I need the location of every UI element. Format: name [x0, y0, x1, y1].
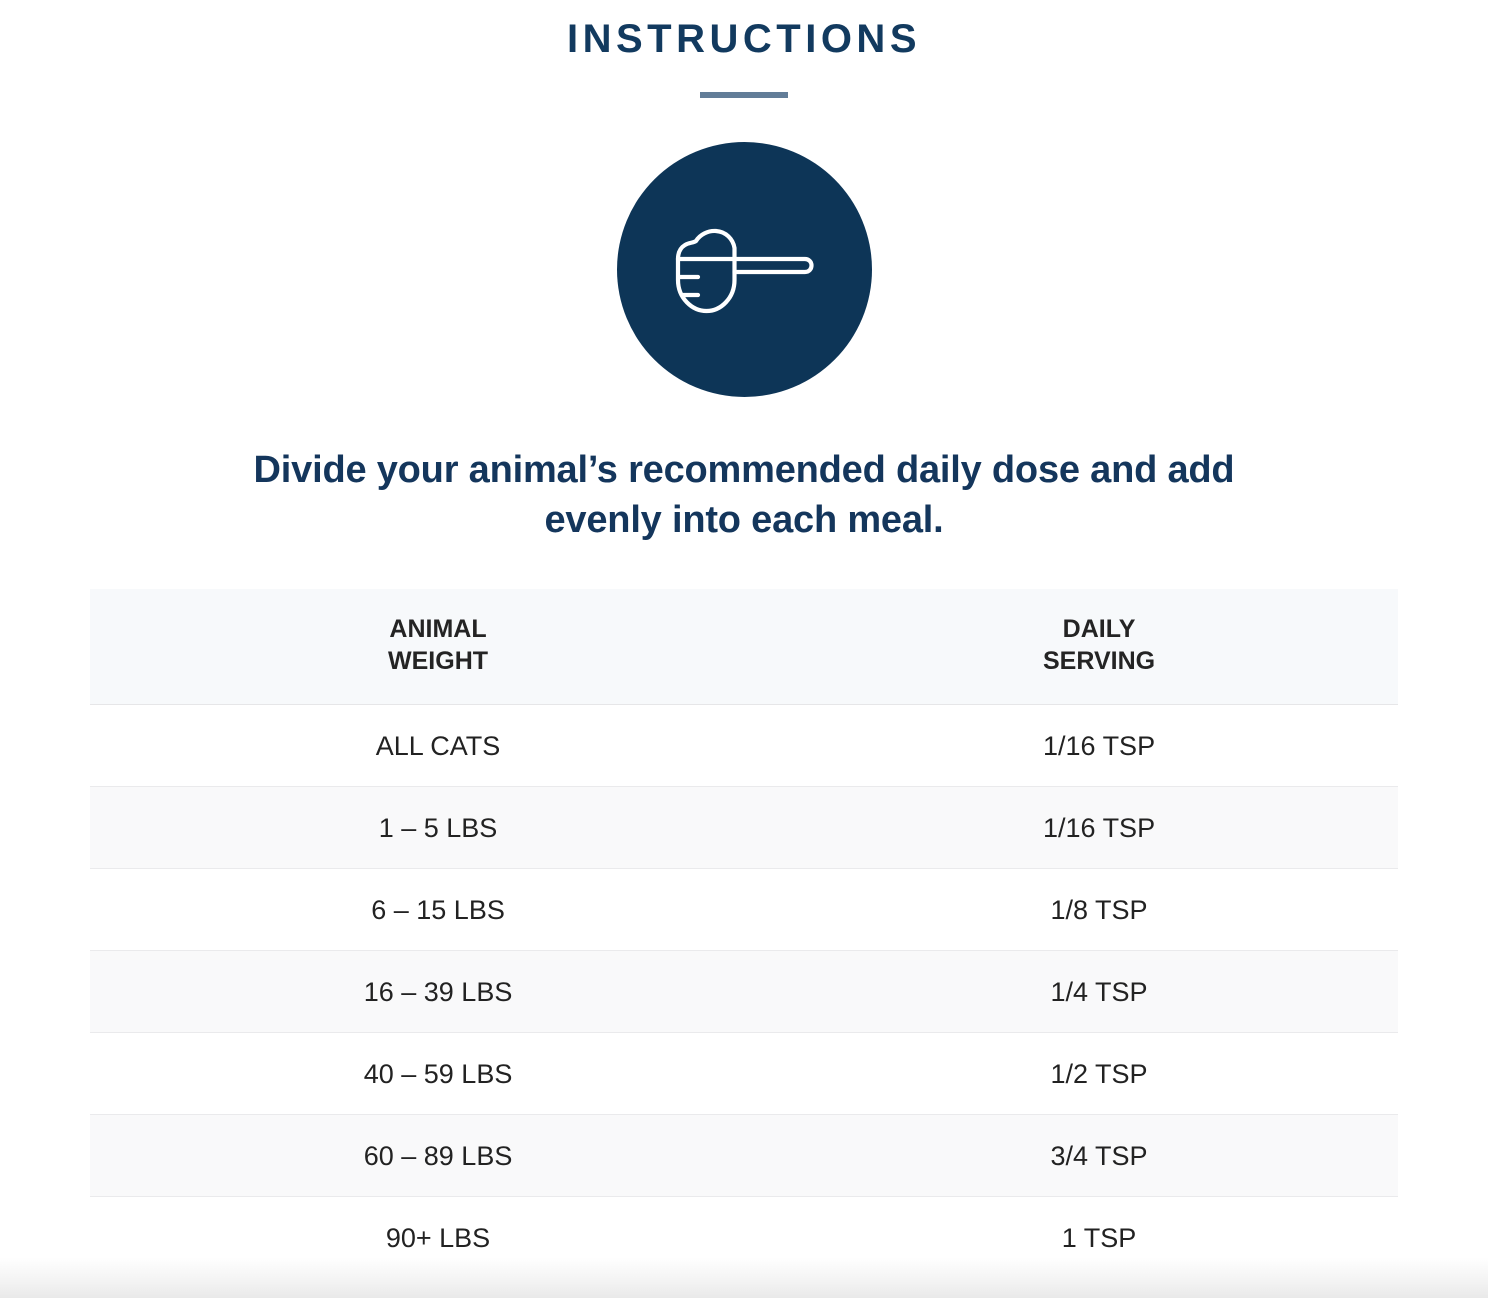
table-head: ANIMAL WEIGHT DAILY SERVING	[90, 589, 1398, 705]
cell-animal-weight: ALL CATS	[90, 705, 808, 787]
cell-animal-weight-text: 1 – 5 LBS	[379, 812, 498, 844]
cell-daily-serving-text: 1/4 TSP	[1051, 976, 1148, 1008]
table-body: ALL CATS 1/16 TSP 1 – 5 LBS 1/16 TSP 6 –…	[90, 705, 1398, 1279]
dosage-table-wrapper: ANIMAL WEIGHT DAILY SERVING ALL CATS	[90, 589, 1398, 1279]
cell-daily-serving-text: 1/16 TSP	[1043, 812, 1155, 844]
cell-animal-weight: 60 – 89 LBS	[90, 1115, 808, 1197]
cell-daily-serving-text: 1 TSP	[1062, 1222, 1137, 1254]
table-row: 1 – 5 LBS 1/16 TSP	[90, 787, 1398, 869]
table-row: 90+ LBS 1 TSP	[90, 1197, 1398, 1279]
cell-animal-weight-text: 6 – 15 LBS	[371, 894, 505, 926]
cell-animal-weight: 6 – 15 LBS	[90, 869, 808, 951]
table-row: 6 – 15 LBS 1/8 TSP	[90, 869, 1398, 951]
cell-daily-serving-text: 1/2 TSP	[1051, 1058, 1148, 1090]
table-header-row: ANIMAL WEIGHT DAILY SERVING	[90, 589, 1398, 705]
column-header-daily-serving-line2: SERVING	[1043, 645, 1155, 677]
cell-daily-serving: 1/2 TSP	[808, 1033, 1398, 1115]
table-row: 60 – 89 LBS 3/4 TSP	[90, 1115, 1398, 1197]
cell-daily-serving: 1/16 TSP	[808, 787, 1398, 869]
cell-animal-weight-text: 60 – 89 LBS	[364, 1140, 513, 1172]
icon-badge-wrapper	[0, 142, 1488, 397]
instructions-page: INSTRUCTIONS Divide your animal’s recomm…	[0, 0, 1488, 1298]
title-divider-wrapper	[0, 92, 1488, 98]
column-header-daily-serving-line1: DAILY	[1043, 613, 1155, 645]
cell-animal-weight: 16 – 39 LBS	[90, 951, 808, 1033]
cell-animal-weight: 90+ LBS	[90, 1197, 808, 1279]
cell-daily-serving-text: 1/16 TSP	[1043, 730, 1155, 762]
cell-animal-weight-text: 40 – 59 LBS	[364, 1058, 513, 1090]
cell-animal-weight: 1 – 5 LBS	[90, 787, 808, 869]
cell-animal-weight-text: 90+ LBS	[386, 1222, 490, 1254]
table-row: 40 – 59 LBS 1/2 TSP	[90, 1033, 1398, 1115]
cell-daily-serving: 1 TSP	[808, 1197, 1398, 1279]
cell-daily-serving: 1/8 TSP	[808, 869, 1398, 951]
cell-daily-serving: 3/4 TSP	[808, 1115, 1398, 1197]
cell-animal-weight-text: 16 – 39 LBS	[364, 976, 513, 1008]
lead-heading: Divide your animal’s recommended daily d…	[244, 397, 1244, 545]
cell-daily-serving-text: 3/4 TSP	[1051, 1140, 1148, 1172]
dosage-table: ANIMAL WEIGHT DAILY SERVING ALL CATS	[90, 589, 1398, 1279]
cell-animal-weight-text: ALL CATS	[376, 730, 501, 762]
measuring-scoop-icon	[617, 142, 872, 397]
table-row: ALL CATS 1/16 TSP	[90, 705, 1398, 787]
column-header-animal-weight: ANIMAL WEIGHT	[90, 589, 808, 705]
cell-daily-serving: 1/4 TSP	[808, 951, 1398, 1033]
column-header-animal-weight-line2: WEIGHT	[388, 645, 488, 677]
column-header-daily-serving: DAILY SERVING	[808, 589, 1398, 705]
table-row: 16 – 39 LBS 1/4 TSP	[90, 951, 1398, 1033]
cell-daily-serving: 1/16 TSP	[808, 705, 1398, 787]
cell-animal-weight: 40 – 59 LBS	[90, 1033, 808, 1115]
measuring-scoop-glyph	[664, 210, 824, 330]
cell-daily-serving-text: 1/8 TSP	[1051, 894, 1148, 926]
page-title: INSTRUCTIONS	[0, 0, 1488, 62]
column-header-animal-weight-line1: ANIMAL	[388, 613, 488, 645]
title-divider	[700, 92, 788, 98]
